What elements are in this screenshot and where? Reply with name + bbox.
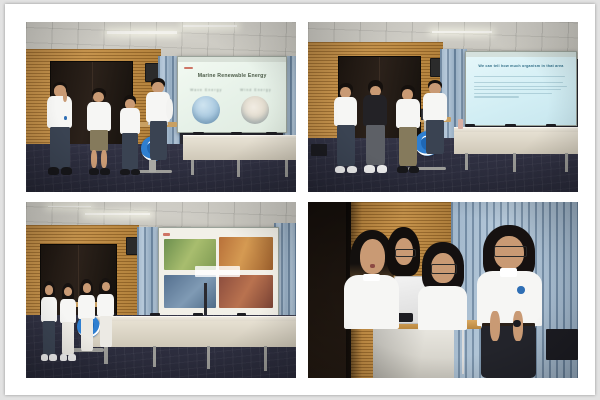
conference-table-front [91,321,296,347]
glasses-icon [395,249,416,258]
photo-bottom-right-image [308,202,578,378]
microphone [465,124,476,127]
uniform-crest [517,286,524,294]
mouth [370,264,375,268]
microphone [266,132,277,135]
table-leg [191,160,194,175]
microphone [150,313,159,317]
projection-screen: We can tell how much organism in that ar… [465,51,578,126]
wristwatch [513,320,520,328]
glasses-icon [494,246,527,257]
slide-overlay-text-2 [166,283,168,289]
slide-photo [219,275,274,308]
microphone-stem [204,283,207,315]
student-2 [83,88,115,176]
photo-top-left[interactable]: Marine Renewable Energy Wave Energy Wind… [26,22,296,192]
bag-on-floor [311,144,327,156]
student-presenter [94,278,118,355]
microphone [546,124,557,127]
table-leg [565,153,568,172]
slide-label-wind: Wind Energy [237,88,276,92]
student-1 [42,82,77,177]
collage-card: Marine Renewable Energy Wave Energy Wind… [5,4,595,395]
microphone [237,313,246,317]
photo-bottom-left-image [26,202,296,378]
slide-photo [219,237,274,270]
student-centre [416,242,470,330]
student-presenter [419,80,451,168]
slide-title-marine: Marine Renewable Energy [178,73,286,79]
lectern-shadow [373,329,454,378]
projection-screen [158,227,279,321]
cable [462,329,464,375]
photo-top-right[interactable]: We can tell how much organism in that ar… [308,22,578,192]
slide-image-wind [241,96,269,124]
slide-label-wave: Wave Energy [187,88,226,92]
microphone [193,132,204,135]
table-leg [465,153,468,170]
collage-page: Marine Renewable Energy Wave Energy Wind… [0,0,600,400]
slide-photo [164,275,216,308]
student-3 [115,95,145,177]
table-leg [264,346,267,371]
slide-image-wave [192,96,220,124]
slide-overlay-text-1 [166,248,168,254]
photo-bottom-left[interactable] [26,202,296,378]
glasses-icon [431,264,458,274]
slide-photo [164,239,216,270]
microphone [505,124,516,127]
chair [546,329,578,361]
table-leg [207,346,210,369]
table-leg [237,160,240,177]
student-presenter [142,78,174,172]
photo-grid: Marine Renewable Energy Wave Energy Wind… [20,18,583,383]
photo-bottom-right[interactable] [308,202,578,378]
table-leg [513,153,516,172]
conference-table-front [454,132,578,154]
slide-caption-box [195,266,240,277]
student-2 [359,80,391,175]
conference-table-front [183,139,296,159]
table-leg [285,160,288,177]
projection-screen: Marine Renewable Energy Wave Energy Wind… [177,56,287,133]
table-leg [153,346,156,367]
photo-top-right-image: We can tell how much organism in that ar… [308,22,578,192]
slide-title-organism: We can tell how much organism in that ar… [466,64,577,68]
water-bottle [458,119,463,129]
student-right [475,225,543,378]
photo-top-left-image: Marine Renewable Energy Wave Energy Wind… [26,22,296,192]
microphone [193,313,202,317]
student-1 [330,83,362,175]
microphone [231,132,242,135]
